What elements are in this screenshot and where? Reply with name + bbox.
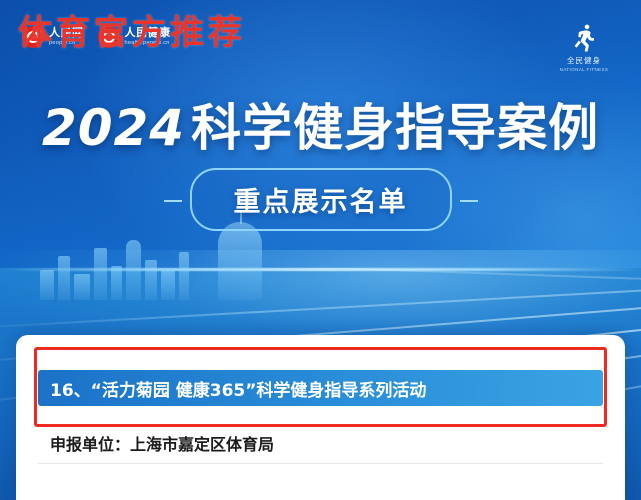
organizer-row: 申报单位：上海市嘉定区体育局 bbox=[50, 431, 274, 455]
poster-image: 人民网 people.cn 人民健康 health.people.cn 全民健身… bbox=[0, 0, 641, 500]
subtitle-pill-label: 重点展示名单 bbox=[234, 187, 408, 218]
title-block: 2024科学健身指导案例 bbox=[0, 88, 641, 160]
national-fitness-logo: 全民健身 NATIONAL FITNESS bbox=[553, 24, 615, 72]
watermark-text: 体育官方推荐 bbox=[18, 5, 246, 54]
card-divider bbox=[38, 463, 603, 464]
national-fitness-label: 全民健身 bbox=[553, 55, 615, 66]
organizer-text: 申报单位：上海市嘉定区体育局 bbox=[50, 435, 274, 454]
running-figure-icon bbox=[570, 24, 598, 52]
entry-title-text: 16、“活力菊园 健康365”科学健身指导系列活动 bbox=[38, 376, 426, 401]
pill-right-dash-icon bbox=[460, 200, 478, 202]
subtitle-block: 重点展示名单 bbox=[0, 168, 641, 231]
entry-highlight-row: 16、“活力菊园 健康365”科学健身指导系列活动 bbox=[38, 370, 603, 406]
horizon-line bbox=[0, 268, 641, 271]
subtitle-pill: 重点展示名单 bbox=[190, 168, 452, 231]
entry-card: 16、“活力菊园 健康365”科学健身指导系列活动 申报单位：上海市嘉定区体育局 bbox=[16, 335, 625, 500]
pill-left-dash-icon bbox=[164, 200, 182, 202]
national-fitness-sublabel: NATIONAL FITNESS bbox=[553, 67, 615, 72]
main-title: 2024科学健身指导案例 bbox=[0, 88, 641, 160]
title-main-text: 科学健身指导案例 bbox=[191, 99, 599, 157]
title-year: 2024 bbox=[42, 99, 185, 157]
